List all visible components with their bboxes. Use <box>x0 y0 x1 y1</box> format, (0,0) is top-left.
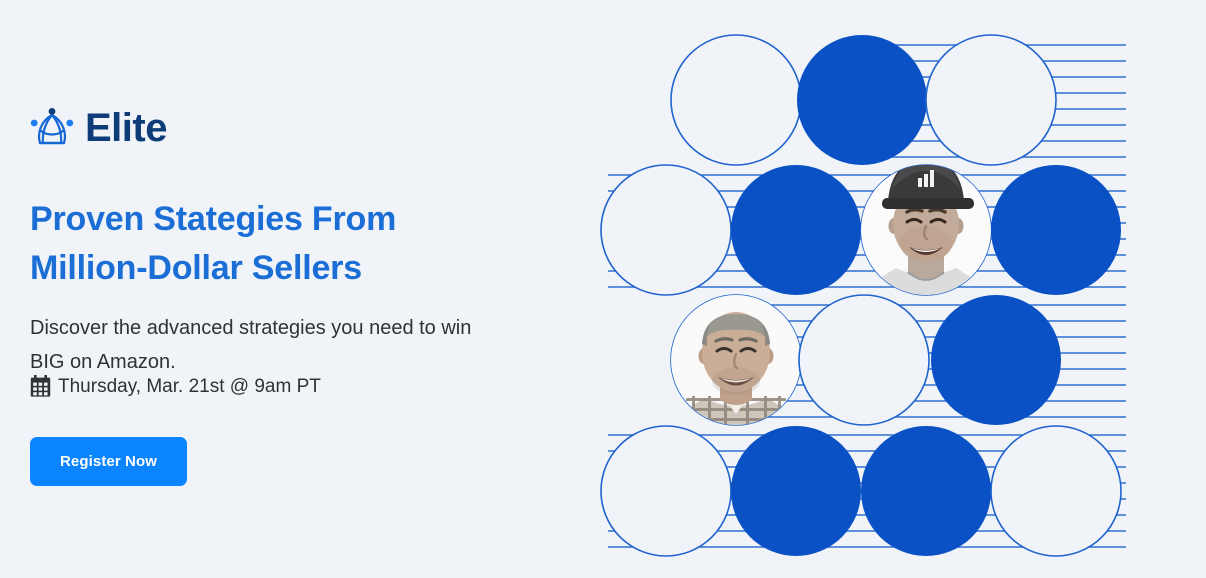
pattern-circle-outline <box>671 35 801 165</box>
webinar-promo-banner: Elite Proven Stategies From Million-Doll… <box>0 0 1206 578</box>
pattern-circle-filled <box>931 295 1061 425</box>
pattern-circle-outline <box>601 165 731 295</box>
pattern-circle-filled <box>861 426 991 556</box>
event-date-text: Thursday, Mar. 21st @ 9am PT <box>58 377 321 396</box>
hero-subhead: Discover the advanced strategies you nee… <box>30 312 570 379</box>
pattern-circle-filled <box>731 165 861 295</box>
pattern-circle-filled <box>991 165 1121 295</box>
circle-grid-svg <box>596 0 1206 578</box>
speaker-photo-man-in-plaid <box>671 295 801 435</box>
page-title: Proven Stategies From Million-Dollar Sel… <box>30 195 550 294</box>
crown-atom-icon <box>28 106 76 150</box>
circle-grid-pattern <box>596 0 1206 578</box>
pattern-circle-outline <box>991 426 1121 556</box>
calendar-icon <box>30 375 51 397</box>
event-date: Thursday, Mar. 21st @ 9am PT <box>30 375 321 397</box>
pattern-circle-outline <box>601 426 731 556</box>
logo-wordmark: Elite <box>85 108 167 148</box>
pattern-circle-outline <box>799 295 929 425</box>
hero-content: Elite Proven Stategies From Million-Doll… <box>28 0 588 578</box>
pattern-circle-filled <box>731 426 861 556</box>
brand-logo[interactable]: Elite <box>28 106 167 150</box>
pattern-circle-outline <box>926 35 1056 165</box>
pattern-circle-filled <box>797 35 927 165</box>
speaker-photo-man-in-cap <box>861 159 991 308</box>
register-now-button[interactable]: Register Now <box>30 437 187 486</box>
